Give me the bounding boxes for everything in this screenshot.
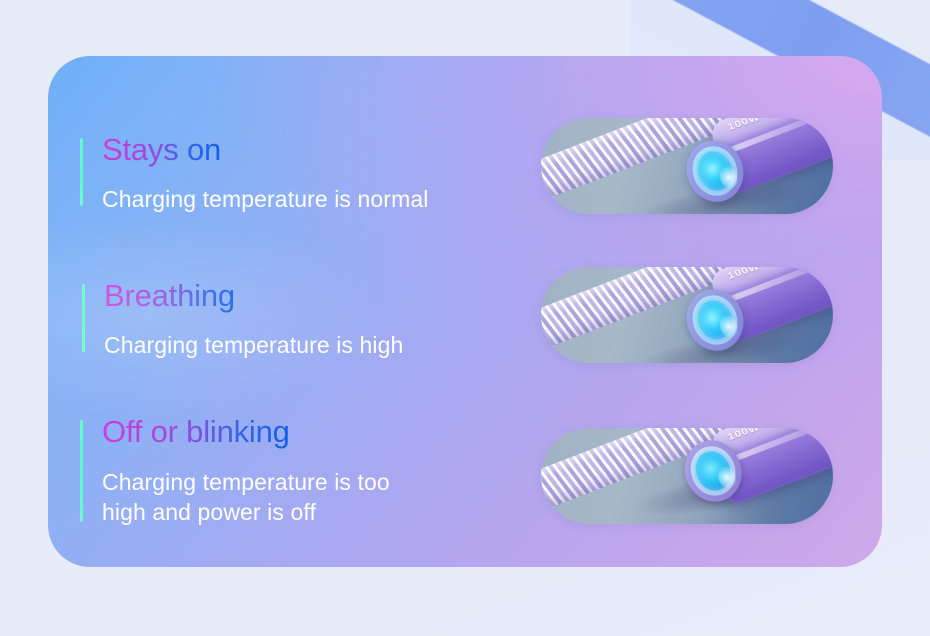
status-row-breathing: Breathing Charging temperature is high 1…: [48, 244, 882, 394]
product-photo-breathing: 100W: [541, 267, 833, 363]
product-photo-off-or-blinking: 100W: [541, 428, 833, 524]
cable-illustration: 100W: [541, 267, 833, 363]
status-description: Charging temperature is normal: [102, 184, 550, 214]
status-heading: Breathing: [104, 278, 235, 315]
status-text-block: Off or blinking Charging temperature is …: [80, 414, 550, 527]
status-text-block: Breathing Charging temperature is high: [82, 278, 552, 361]
status-description: Charging temperature is high: [104, 330, 552, 360]
product-photo-stays-on: 100W: [541, 118, 833, 214]
accent-bar-icon: [80, 138, 83, 207]
cable-illustration: 100W: [541, 118, 833, 214]
info-card: Stays on Charging temperature is normal …: [48, 56, 882, 567]
status-heading: Off or blinking: [102, 414, 290, 451]
accent-bar-icon: [80, 420, 83, 521]
status-heading: Stays on: [102, 132, 221, 169]
status-text-block: Stays on Charging temperature is normal: [80, 132, 550, 215]
status-description: Charging temperature is too high and pow…: [102, 467, 550, 528]
cable-illustration: 100W: [541, 428, 833, 524]
accent-bar-icon: [82, 284, 85, 353]
status-row-off-or-blinking: Off or blinking Charging temperature is …: [48, 396, 882, 546]
status-row-stays-on: Stays on Charging temperature is normal …: [48, 98, 882, 248]
